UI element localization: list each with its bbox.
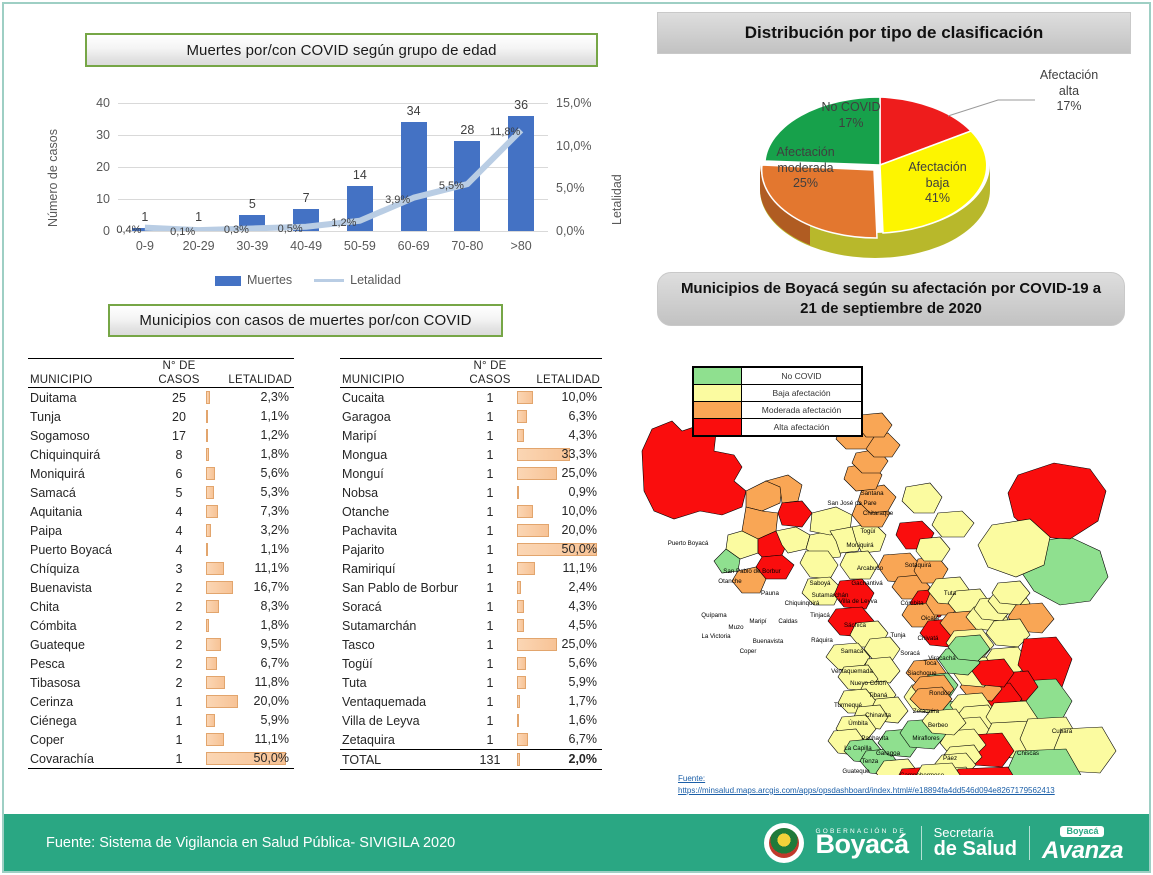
cell-casos: 1 [467,483,513,502]
map-label-puerto-boyac-: Puerto Boyacá [668,540,709,547]
y2-tick-15,0%: 15,0% [556,96,602,110]
pie-label-baja-w2: baja [890,176,985,192]
letalidad-value: 5,6% [569,656,598,670]
map-legend: No COVIDBaja afectaciónModerada afectaci… [692,366,863,437]
cell-letalidad: 4,3% [513,597,602,616]
y2-tick-0,0%: 0,0% [556,224,602,238]
letalidad-databar [206,657,217,670]
table-row: San Pablo de Borbur12,4% [340,578,602,597]
cell-casos: 1 [467,445,513,464]
map-label-berbeo: Berbeo [928,722,949,729]
header-municipio-right: MUNICIPIO [340,373,467,388]
cell-casos: 4 [156,521,202,540]
map-label-sorac-: Soracá [900,650,920,657]
x-tick-0-9: 0-9 [118,239,172,253]
map-label-ventaquemada: Ventaquemada [831,668,873,675]
footer-source-text: Fuente: Sistema de Vigilancia en Salud P… [46,835,455,851]
table-row: Cerinza120,0% [28,692,294,711]
y-tick-20: 20 [82,160,110,174]
pie-callout-value: 17% [1028,99,1110,115]
cell-casos: 3 [156,559,202,578]
cell-letalidad: 6,3% [513,407,602,426]
cell-letalidad: 1,7% [513,692,602,711]
table-row: Zetaquira16,7% [340,730,602,750]
letalidad-databar [206,505,218,518]
x-tick-40-49: 40-49 [279,239,333,253]
map-label-chiquinquir-: Chiquinquirá [785,600,820,607]
cell-letalidad: 11,1% [513,559,602,578]
letalidad-databar [206,676,225,689]
cell-municipio: Tunja [28,407,156,426]
map-label-coper: Coper [740,648,757,655]
letalidad-value: 16,7% [254,580,289,594]
x-tick-30-39: 30-39 [225,239,279,253]
letalidad-databar [206,733,224,746]
table-row: Chíquiza311,1% [28,559,294,578]
cell-casos: 25 [156,388,202,408]
cell-total-casos: 131 [467,750,513,770]
table-row: Tuta15,9% [340,673,602,692]
cell-letalidad: 20,0% [202,692,294,711]
letalidad-value: 4,3% [569,599,598,613]
cell-letalidad: 20,0% [513,521,602,540]
letalidad-databar [206,562,224,575]
cell-casos: 2 [156,673,202,692]
cell-letalidad: 50,0% [513,540,602,559]
letalidad-databar [206,410,208,423]
cell-letalidad: 11,1% [202,559,294,578]
cell-municipio: Ciénega [28,711,156,730]
table-total-row: TOTAL1312,0% [340,750,602,770]
map-legend-row: No COVID [694,368,862,385]
letalidad-databar [517,619,524,632]
cell-casos: 1 [467,464,513,483]
letalidad-value: 1,7% [569,694,598,708]
table-left-body: Duitama252,3%Tunja201,1%Sogamoso171,2%Ch… [28,388,294,770]
map-label-chinavita: Chinavita [865,712,891,719]
cell-letalidad: 50,0% [202,749,294,769]
map-label-p-ez: Páez [943,755,957,762]
table-row: Cucaita110,0% [340,388,602,408]
map-legend-swatch [694,385,742,402]
map-label-tiban-: Tibaná [869,692,888,699]
map-label-saboy-: Saboyá [810,580,832,587]
letalidad-databar [517,524,549,537]
table-row: Cómbita21,8% [28,616,294,635]
cell-casos: 1 [467,711,513,730]
cell-letalidad: 6,7% [202,654,294,673]
letalidad-databar [517,505,533,518]
letalidad-databar [206,486,214,499]
letalidad-databar [517,753,520,766]
table-row: Sutamarchán14,5% [340,616,602,635]
letalidad-value: 5,6% [261,466,290,480]
table-header-row-1: N° DE [340,359,602,374]
cell-municipio: Sogamoso [28,426,156,445]
map-label-s-chica: Sáchica [844,622,867,629]
table-row: Pesca26,7% [28,654,294,673]
table-title: Municipios con casos de muertes por/con … [139,312,471,329]
letalidad-databar [206,695,238,708]
map-legend-table: No COVIDBaja afectaciónModerada afectaci… [693,367,862,436]
brand-divider-1 [921,826,922,860]
cell-casos: 2 [156,597,202,616]
pie-title: Distribución por tipo de clasificación [745,23,1044,43]
map-legend-swatch [694,402,742,419]
table-row: Tunja201,1% [28,407,294,426]
cell-municipio: Coper [28,730,156,749]
x-tick-60-69: 60-69 [387,239,441,253]
map-label-siachoque: Siachoque [907,670,937,677]
cell-casos: 20 [156,407,202,426]
letalidad-databar [206,391,210,404]
cell-municipio: Paipa [28,521,156,540]
letalidad-value: 0,9% [569,485,598,499]
map-label-cubar-: Cubará [1052,728,1073,735]
letalidad-value: 4,5% [569,618,598,632]
letalidad-databar [517,695,520,708]
letalidad-value: 2,3% [261,390,290,404]
table-row: Duitama252,3% [28,388,294,408]
letalidad-value-label: 0,4% [107,224,151,236]
table-left: N° DE MUNICIPIO CASOS LETALIDAD Duitama2… [28,358,294,770]
cell-letalidad: 7,3% [202,502,294,521]
header-municipio-left: MUNICIPIO [28,373,156,388]
cell-municipio: Villa de Leyva [340,711,467,730]
table-header-row-2: MUNICIPIO CASOS LETALIDAD [28,373,294,388]
letalidad-value: 33,3% [562,447,597,461]
cell-letalidad: 2,4% [513,578,602,597]
map-label-zetaquira: Zetaquira [913,708,940,715]
map-label-la-victoria: La Victoria [701,633,731,640]
table-bottom-rule [28,769,294,770]
letalidad-value: 8,3% [261,599,290,613]
table-row: Pachavita120,0% [340,521,602,540]
table-row: Maripí14,3% [340,426,602,445]
cell-letalidad: 1,8% [202,445,294,464]
header-ndee-left: N° DE [156,359,202,374]
cell-municipio: Nobsa [340,483,467,502]
cell-letalidad: 5,9% [513,673,602,692]
pie-label-moderada-value: 25% [758,176,853,192]
bar-chart: Número de casos Letalidad 010203040 0,0%… [40,95,640,295]
pie-label-no-covid-text: No COVID [808,100,894,116]
cell-letalidad: 5,9% [202,711,294,730]
header-letalidad-left: LETALIDAD [202,373,294,388]
map-label-otanche: Otanche [718,578,742,585]
pie-label-baja-value: 41% [890,191,985,207]
bar-chart-y-axis-title: Número de casos [46,117,60,227]
pie-label-baja-w1: Afectación [890,160,985,176]
cell-letalidad: 25,0% [513,464,602,483]
map-label-pauna: Pauna [761,590,779,597]
bar-chart-title: Muertes por/con COVID según grupo de eda… [186,42,496,59]
cell-casos: 1 [467,578,513,597]
avanza-name: Avanza [1042,839,1123,863]
map-title-line1: Municipios de Boyacá según su afectación… [681,279,1101,299]
municipios-table-right: N° DE MUNICIPIO CASOS LETALIDAD Cucaita1… [340,358,602,770]
letalidad-value: 25,0% [562,466,597,480]
map-label-san-jos-de-pare: San José de Pare [827,500,877,507]
x-tick-70-80: 70-80 [440,239,494,253]
region-sotaquira [902,483,942,513]
cell-letalidad: 6,7% [513,730,602,750]
table-row: Tibasosa211,8% [28,673,294,692]
map-title-line2: 21 de septiembre de 2020 [800,299,982,319]
cell-municipio: Tibasosa [28,673,156,692]
map-regions [642,413,1116,775]
cell-casos: 1 [467,654,513,673]
table-row: Samacá55,3% [28,483,294,502]
region-pauna [778,501,812,527]
cell-municipio: Chita [28,597,156,616]
letalidad-value: 3,2% [261,523,290,537]
cell-municipio: Ventaquemada [340,692,467,711]
cell-casos: 1 [467,540,513,559]
cell-casos: 1 [467,502,513,521]
table-row: Coper111,1% [28,730,294,749]
table-row: Monguí125,0% [340,464,602,483]
map-label-tenza: Tenza [862,758,879,765]
cell-casos: 1 [467,426,513,445]
cell-municipio: Togüí [340,654,467,673]
cell-casos: 1 [156,692,202,711]
map-label-qu-pama: Quípama [701,612,727,619]
map-label-marip-: Maripí [749,618,766,625]
letalidad-value: 2,4% [569,580,598,594]
pie-callout-w2: alta [1028,84,1110,100]
map-legend-row: Baja afectación [694,385,862,402]
map-source-link[interactable]: Fuente: https://minsalud.maps.arcgis.com… [678,773,1055,796]
letalidad-value: 1,6% [569,713,598,727]
map-label-turmequ-: Turmequé [834,702,863,709]
letalidad-value-label: 3,9% [376,194,420,206]
letalidad-value: 11,1% [254,561,289,575]
cell-municipio: Tuta [340,673,467,692]
pie-callout-w1: Afectación [1028,68,1110,84]
cell-casos: 1 [156,749,202,769]
letalidad-value: 5,9% [261,713,290,727]
legend-item-letalidad: Letalidad [314,273,401,287]
letalidad-value: 6,7% [261,656,290,670]
header-ndee-right: N° DE [467,359,513,374]
map-label-santana: Santana [860,490,884,497]
cell-letalidad: 33,3% [513,445,602,464]
map-legend-label: Baja afectación [742,385,862,402]
map-label-r-quira: Ráquira [811,637,833,644]
map-label--mbita: Úmbita [848,720,868,727]
letalidad-value: 11,1% [562,561,597,575]
map-label-gachantiv-: Gachantivá [851,580,883,587]
cell-casos: 1 [467,521,513,540]
cell-municipio: Maripí [340,426,467,445]
cell-letalidad: 25,0% [513,635,602,654]
cell-municipio: Guateque [28,635,156,654]
letalidad-value-label: 1,2% [322,217,366,229]
pie-callout-afectacion-alta: Afectación alta 17% [1028,68,1110,115]
map-label-samac-: Samacá [841,648,864,655]
map-label-villa-de-leyva: Villa de Leyva [839,598,878,605]
letalidad-value: 11,8% [254,675,289,689]
cell-letalidad: 16,7% [202,578,294,597]
cell-municipio: Mongua [340,445,467,464]
letalidad-databar [517,581,521,594]
letalidad-value-label: 5,5% [429,180,473,192]
cell-casos: 8 [156,445,202,464]
cell-letalidad: 4,3% [513,426,602,445]
letalidad-value: 50,0% [562,542,597,556]
map-label-buenavista: Buenavista [753,638,784,645]
map-label-miraflores: Miraflores [912,735,939,742]
map-label-san-pablo-de-borbur: San Pablo de Borbur [723,568,780,575]
header-letalidad-right: LETALIDAD [513,373,602,388]
letalidad-databar [517,657,526,670]
legend-swatch-line-icon [314,279,344,282]
letalidad-databar [517,676,526,689]
cell-municipio: Duitama [28,388,156,408]
letalidad-value: 10,0% [562,390,597,404]
map-label-tinjac-: Tinjacá [810,612,830,619]
letalidad-databar [206,429,208,442]
cell-casos: 17 [156,426,202,445]
cell-letalidad: 11,1% [202,730,294,749]
pie-label-afectacion-moderada: Afectación moderada 25% [758,145,853,192]
cell-letalidad: 4,5% [513,616,602,635]
letalidad-value-label: 0,5% [268,223,312,235]
letalidad-databar [206,714,215,727]
letalidad-databar [206,581,233,594]
cell-casos: 2 [156,616,202,635]
map-legend-swatch [694,419,742,436]
region-oicata [916,537,950,561]
cell-municipio: Aquitania [28,502,156,521]
cell-letalidad: 5,6% [513,654,602,673]
cell-municipio: San Pablo de Borbur [340,578,467,597]
letalidad-value: 11,1% [254,732,289,746]
pie-label-no-covid-value: 17% [808,116,894,132]
map-label-chiscas: Chiscas [1017,750,1039,757]
letalidad-databar [206,619,209,632]
letalidad-databar [517,410,527,423]
map-label-pachavita: Pachavita [861,735,889,742]
cell-municipio: Pajarito [340,540,467,559]
brand-divider-2 [1029,826,1030,860]
cell-municipio: Covarachía [28,749,156,769]
header-casos-right: CASOS [467,373,513,388]
letalidad-databar [206,467,215,480]
map-label-nuevo-col-n: Nuevo Colón [850,680,886,687]
cell-letalidad: 5,6% [202,464,294,483]
x-tick->80: >80 [494,239,548,253]
boyaca-map: No COVIDBaja afectaciónModerada afectaci… [630,355,1150,775]
table-row: Tasco125,0% [340,635,602,654]
y-tick-30: 30 [82,128,110,142]
map-label-chitaraque: Chitaraque [863,510,894,517]
map-label-rond-n: Rondón [929,690,951,697]
cell-casos: 1 [467,692,513,711]
table-row: Otanche110,0% [340,502,602,521]
table-title-banner: Municipios con casos de muertes por/con … [108,304,503,337]
map-source-label: Fuente: [678,773,1055,785]
cell-municipio: Zetaquira [340,730,467,750]
secretaria-salud-wordmark: Secretaría de Salud [934,826,1017,860]
cell-municipio: Cómbita [28,616,156,635]
letalidad-value-label: 0,3% [214,224,258,236]
letalidad-value: 2,0% [569,752,598,766]
letalidad-value: 7,3% [261,504,290,518]
table-row: Villa de Leyva11,6% [340,711,602,730]
map-label-chivat-: Chivatá [918,635,940,642]
map-legend-label: Alta afectación [742,419,862,436]
letalidad-databar [517,638,557,651]
cell-letalidad: 11,8% [202,673,294,692]
letalidad-value: 1,8% [261,618,290,632]
pie-callout-leader-line [948,100,1035,116]
map-label-c-mbita: Cómbita [900,600,924,607]
table-row: Ventaquemada11,7% [340,692,602,711]
bar-chart-title-banner: Muertes por/con COVID según grupo de eda… [85,33,598,67]
map-source-url[interactable]: https://minsalud.maps.arcgis.com/apps/op… [678,785,1055,797]
letalidad-databar [517,562,535,575]
cell-municipio: Sutamarchán [340,616,467,635]
cell-letalidad: 2,3% [202,388,294,408]
map-label-sotaquir-: Sotaquirá [905,562,932,569]
header-casos-left: CASOS [156,373,202,388]
table-right-body: Cucaita110,0%Garagoa16,3%Maripí14,3%Mong… [340,388,602,770]
table-row: Chita28,3% [28,597,294,616]
secretaria-line1: Secretaría [934,826,1017,839]
cell-casos: 4 [156,502,202,521]
letalidad-databar [206,524,211,537]
cell-letalidad: 5,3% [202,483,294,502]
letalidad-value-label: 0,1% [161,226,205,238]
table-row: Mongua133,3% [340,445,602,464]
y2-tick-10,0%: 10,0% [556,139,602,153]
cell-municipio: Chiquinquirá [28,445,156,464]
municipios-table-left: N° DE MUNICIPIO CASOS LETALIDAD Duitama2… [28,358,296,770]
letalidad-value: 4,3% [569,428,598,442]
secretaria-line2: de Salud [934,839,1017,859]
y-tick-40: 40 [82,96,110,110]
footer-bar: Fuente: Sistema de Vigilancia en Salud P… [4,814,1149,871]
cell-total-letalidad: 2,0% [513,750,602,770]
table-row: Moniquirá65,6% [28,464,294,483]
letalidad-databar [517,467,557,480]
y-tick-10: 10 [82,192,110,206]
bar-chart-y2-axis-title: Letalidad [610,135,624,225]
letalidad-value: 1,1% [261,409,290,423]
table-row: Buenavista216,7% [28,578,294,597]
map-legend-label: Moderada afectación [742,402,862,419]
table-row: Pajarito150,0% [340,540,602,559]
table-header-row-2: MUNICIPIO CASOS LETALIDAD [340,373,602,388]
cell-letalidad: 10,0% [513,388,602,408]
cell-municipio: Ramiriquí [340,559,467,578]
map-legend-row: Moderada afectación [694,402,862,419]
letalidad-value: 6,7% [569,732,598,746]
letalidad-databar [517,486,519,499]
map-label-caldas: Caldas [778,618,797,625]
letalidad-value: 20,0% [254,694,289,708]
letalidad-databar [206,638,221,651]
letalidad-databar [517,733,528,746]
boyaca-avanza-logo: Boyacá Avanza [1042,822,1123,863]
cell-municipio: Buenavista [28,578,156,597]
pie-title-banner: Distribución por tipo de clasificación [657,12,1131,54]
letalidad-value: 1,8% [261,447,290,461]
avanza-tag: Boyacá [1060,826,1104,837]
cell-letalidad: 1,2% [202,426,294,445]
